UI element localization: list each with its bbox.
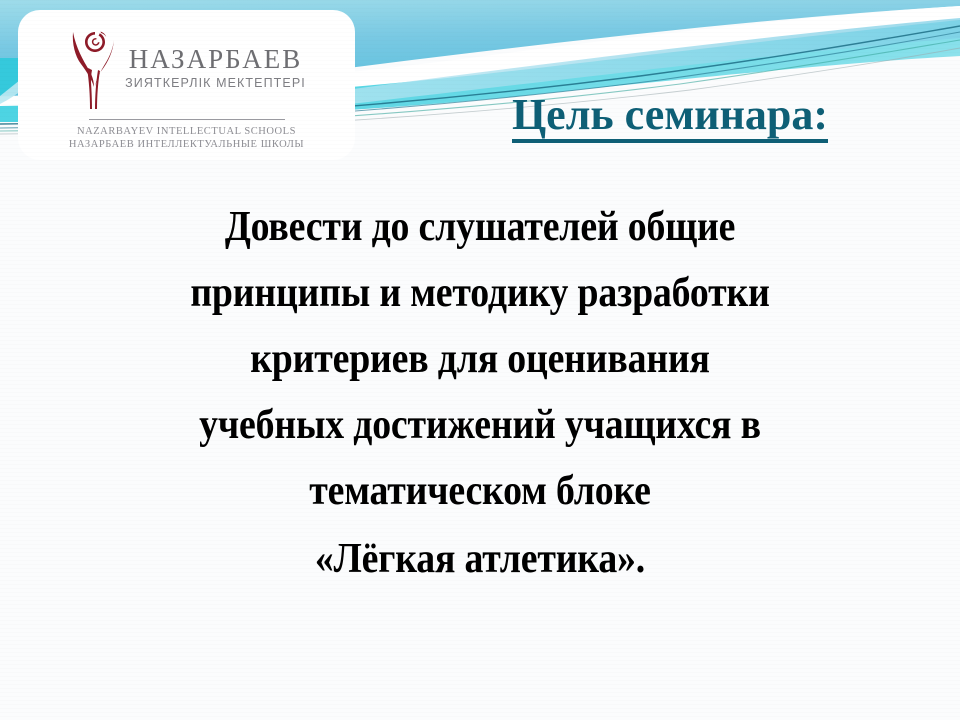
logo-subtitle-kk: ЗИЯТКЕРЛІК МЕКТЕПТЕРІ xyxy=(125,77,306,90)
presentation-slide: НАЗАРБАЕВ ЗИЯТКЕРЛІК МЕКТЕПТЕРІ NAZARBAY… xyxy=(0,0,960,720)
slide-title-text: Цель семинара: xyxy=(512,92,828,143)
body-line-5: тематическом блоке xyxy=(84,470,876,512)
logo-subtitle-en: NAZARBAYEV INTELLECTUAL SCHOOLS xyxy=(77,125,296,138)
body-line-6: «Лёгкая атлетика». xyxy=(84,538,876,580)
body-line-3: критериев для оценивания xyxy=(84,338,876,380)
logo-subtitle-ru: НАЗАРБАЕВ ИНТЕЛЛЕКТУАЛЬНЫЕ ШКОЛЫ xyxy=(69,138,304,151)
logo-divider-rule xyxy=(89,119,285,120)
slide-body: Довести до слушателей общие принципы и м… xyxy=(40,206,920,580)
nazarbayev-flame-figure-icon xyxy=(67,26,123,112)
body-line-1: Довести до слушателей общие xyxy=(84,206,876,248)
logo-name-text: НАЗАРБАЕВ xyxy=(129,46,303,73)
body-line-2: принципы и методику разработки xyxy=(84,272,876,314)
body-line-4: учебных достижений учащихся в xyxy=(84,404,876,446)
slide-title: Цель семинара: xyxy=(420,92,920,143)
nazarbayev-schools-logo-card: НАЗАРБАЕВ ЗИЯТКЕРЛІК МЕКТЕПТЕРІ NAZARBAY… xyxy=(18,10,355,160)
